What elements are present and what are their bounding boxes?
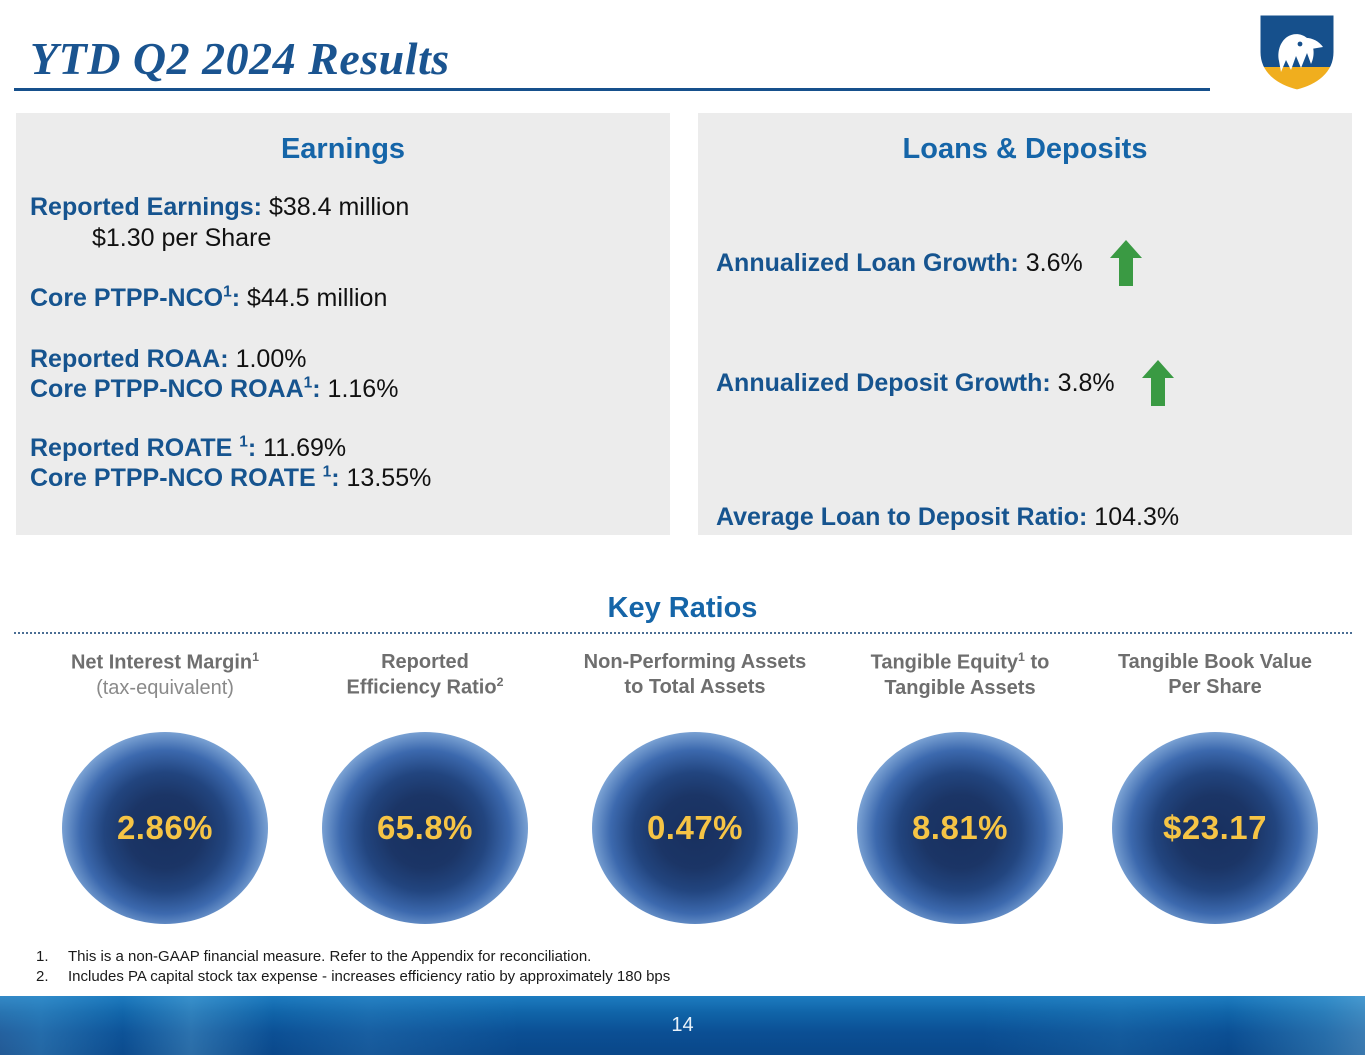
- metric-average-loan-to-deposit-ratio: Average Loan to Deposit Ratio: 104.3%: [716, 480, 1352, 554]
- ratio-bubble: $23.17: [1112, 732, 1318, 924]
- metric-value: 1.16%: [328, 375, 399, 403]
- key-ratios-row: Net Interest Margin1 (tax-equivalent) 2.…: [0, 650, 1365, 950]
- metric-label: Average Loan to Deposit Ratio:: [716, 503, 1087, 531]
- ratio-value: 2.86%: [117, 809, 213, 847]
- ratio-value: $23.17: [1163, 809, 1267, 847]
- spacer: [30, 253, 670, 283]
- footnote-marker: 1: [304, 375, 313, 392]
- metric-core-ptpp-nco-roaa: Core PTPP-NCO ROAA1: 1.16%: [30, 374, 670, 405]
- footnote-marker: 1: [1018, 650, 1025, 664]
- metric-label: Annualized Loan Growth:: [716, 249, 1019, 277]
- ratio-bubble: 8.81%: [857, 732, 1063, 924]
- ratio-cell-reported-efficiency-ratio: ReportedEfficiency Ratio2 65.8%: [310, 650, 540, 924]
- footnote-text: Includes PA capital stock tax expense - …: [68, 968, 670, 985]
- ratio-cell-tangible-equity-to-tangible-assets: Tangible Equity1 to Tangible Assets 8.81…: [845, 650, 1075, 924]
- metric-value: 11.69%: [263, 434, 346, 462]
- metric-value: 13.55%: [347, 464, 432, 492]
- footnote-item: 1. This is a non-GAAP financial measure.…: [36, 948, 670, 965]
- spacer: [30, 405, 670, 433]
- ratio-label: Net Interest Margin1 (tax-equivalent): [50, 650, 280, 726]
- ratio-label: Non-Performing Assets to Total Assets: [580, 650, 810, 726]
- page-title: YTD Q2 2024 Results: [30, 32, 450, 85]
- metric-annualized-loan-growth: Annualized Loan Growth: 3.6%: [716, 226, 1352, 300]
- metric-earnings-per-share: $1.30 per Share: [30, 223, 670, 254]
- footnote-marker: 1: [223, 284, 232, 301]
- footnote-text: This is a non-GAAP financial measure. Re…: [68, 948, 591, 965]
- metric-value: 3.8%: [1058, 369, 1115, 397]
- ratio-bubble: 0.47%: [592, 732, 798, 924]
- metric-core-ptpp-nco-roate: Core PTPP-NCO ROATE 1: 13.55%: [30, 463, 670, 494]
- spacer: [30, 314, 670, 344]
- earnings-metrics-list: Reported Earnings: $38.4 million $1.30 p…: [16, 166, 670, 494]
- metric-label: Core PTPP-NCO ROATE 1:: [30, 464, 340, 492]
- metric-label: Reported ROATE 1:: [30, 434, 256, 462]
- ratio-cell-npa-to-total-assets: Non-Performing Assets to Total Assets 0.…: [580, 650, 810, 924]
- arrow-up-icon: [1109, 239, 1143, 287]
- ratio-value: 0.47%: [647, 809, 743, 847]
- footnote-number: 2.: [36, 968, 68, 985]
- ratio-value: 65.8%: [377, 809, 473, 847]
- metric-core-ptpp-nco: Core PTPP-NCO1: $44.5 million: [30, 283, 670, 314]
- metric-label: Core PTPP-NCO1:: [30, 284, 240, 312]
- metric-value: $1.30 per Share: [92, 224, 271, 252]
- metric-label: Annualized Deposit Growth:: [716, 369, 1051, 397]
- spacer: [716, 420, 1352, 480]
- metric-value: $44.5 million: [247, 284, 387, 312]
- page-number: 14: [0, 996, 1365, 1055]
- title-underline-rule: [14, 88, 1210, 91]
- metric-label: Reported Earnings:: [30, 193, 262, 221]
- metric-reported-roaa: Reported ROAA: 1.00%: [30, 344, 670, 375]
- footnote-marker: 1: [323, 464, 332, 481]
- metric-value: 1.00%: [236, 345, 307, 373]
- eagle-shield-logo: [1253, 8, 1341, 94]
- key-ratios-title: Key Ratios: [0, 592, 1365, 625]
- metric-reported-roate: Reported ROATE 1: 11.69%: [30, 433, 670, 464]
- spacer: [716, 300, 1352, 346]
- footer-bar: 14: [0, 996, 1365, 1055]
- ratio-cell-net-interest-margin: Net Interest Margin1 (tax-equivalent) 2.…: [50, 650, 280, 924]
- metric-label: Reported ROAA:: [30, 345, 229, 373]
- footnote-item: 2. Includes PA capital stock tax expense…: [36, 968, 670, 985]
- loans-deposits-panel-title: Loans & Deposits: [698, 133, 1352, 166]
- footnote-marker: 1: [252, 650, 259, 664]
- arrow-up-icon: [1141, 359, 1175, 407]
- key-ratios-divider: [14, 632, 1352, 634]
- footnotes-list: 1. This is a non-GAAP financial measure.…: [36, 948, 670, 988]
- metric-annualized-deposit-growth: Annualized Deposit Growth: 3.8%: [716, 346, 1352, 420]
- loans-metrics-list: Annualized Loan Growth: 3.6% Annualized …: [698, 166, 1352, 554]
- footnote-marker: 1: [239, 433, 248, 450]
- metric-reported-earnings: Reported Earnings: $38.4 million: [30, 192, 670, 223]
- ratio-bubble: 65.8%: [322, 732, 528, 924]
- ratio-bubble: 2.86%: [62, 732, 268, 924]
- metric-label: Core PTPP-NCO ROAA1:: [30, 375, 321, 403]
- ratio-label: Tangible Book Value Per Share: [1100, 650, 1330, 726]
- footnote-number: 1.: [36, 948, 68, 965]
- footnote-marker: 2: [497, 675, 504, 689]
- metric-value: 3.6%: [1026, 249, 1083, 277]
- loans-deposits-panel: Loans & Deposits Annualized Loan Growth:…: [698, 113, 1352, 535]
- ratio-value: 8.81%: [912, 809, 1008, 847]
- ratio-label: Tangible Equity1 to Tangible Assets: [845, 650, 1075, 726]
- earnings-panel: Earnings Reported Earnings: $38.4 millio…: [16, 113, 670, 535]
- ratio-cell-tangible-book-value-per-share: Tangible Book Value Per Share $23.17: [1100, 650, 1330, 924]
- metric-value: $38.4 million: [269, 193, 409, 221]
- earnings-panel-title: Earnings: [16, 133, 670, 166]
- metric-value: 104.3%: [1094, 503, 1179, 531]
- ratio-label: ReportedEfficiency Ratio2: [310, 650, 540, 726]
